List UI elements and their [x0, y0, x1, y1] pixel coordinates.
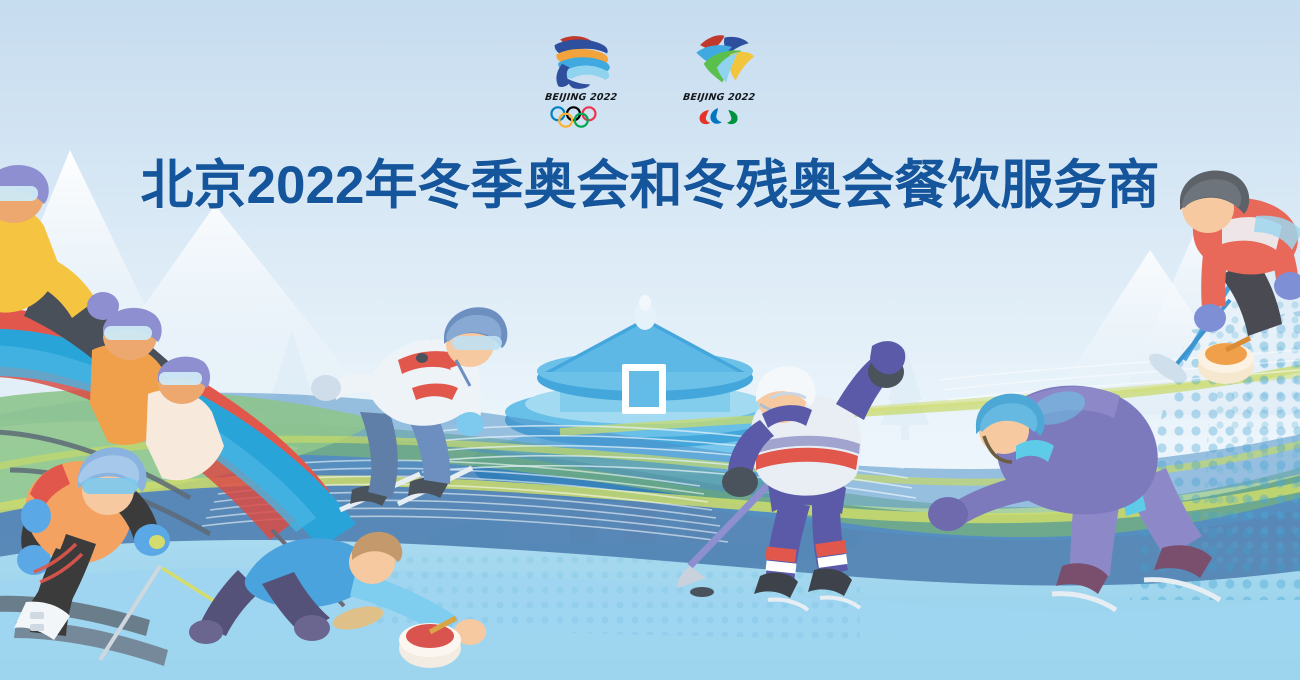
- flying-figure-emblem-icon: [672, 32, 766, 90]
- logo-row: BEIJING 2022 BEIJING 20: [0, 32, 1300, 128]
- beijing-2022-catering-banner: BEIJING 2022 BEIJING 20: [0, 0, 1300, 680]
- olympic-wordmark: BEIJING 2022: [544, 92, 617, 103]
- page-title: 北京2022年冬季奥会和冬残奥会餐饮服务商: [0, 143, 1300, 219]
- beijing-2022-olympic-logo: BEIJING 2022: [533, 32, 629, 128]
- paralympic-agitos-icon: [683, 106, 754, 128]
- olympic-rings-icon: [545, 106, 616, 128]
- ice-hockey-player-figure: [678, 341, 906, 610]
- speed-skater-figure: [928, 385, 1220, 610]
- paralympic-wordmark: BEIJING 2022: [682, 92, 755, 103]
- beijing-2022-paralympic-logo: BEIJING 2022: [671, 32, 767, 128]
- winter-dancing-figure-emblem-icon: [534, 32, 628, 90]
- short-track-skater-figure: [311, 307, 507, 510]
- curler-delivery-figure: [189, 530, 486, 668]
